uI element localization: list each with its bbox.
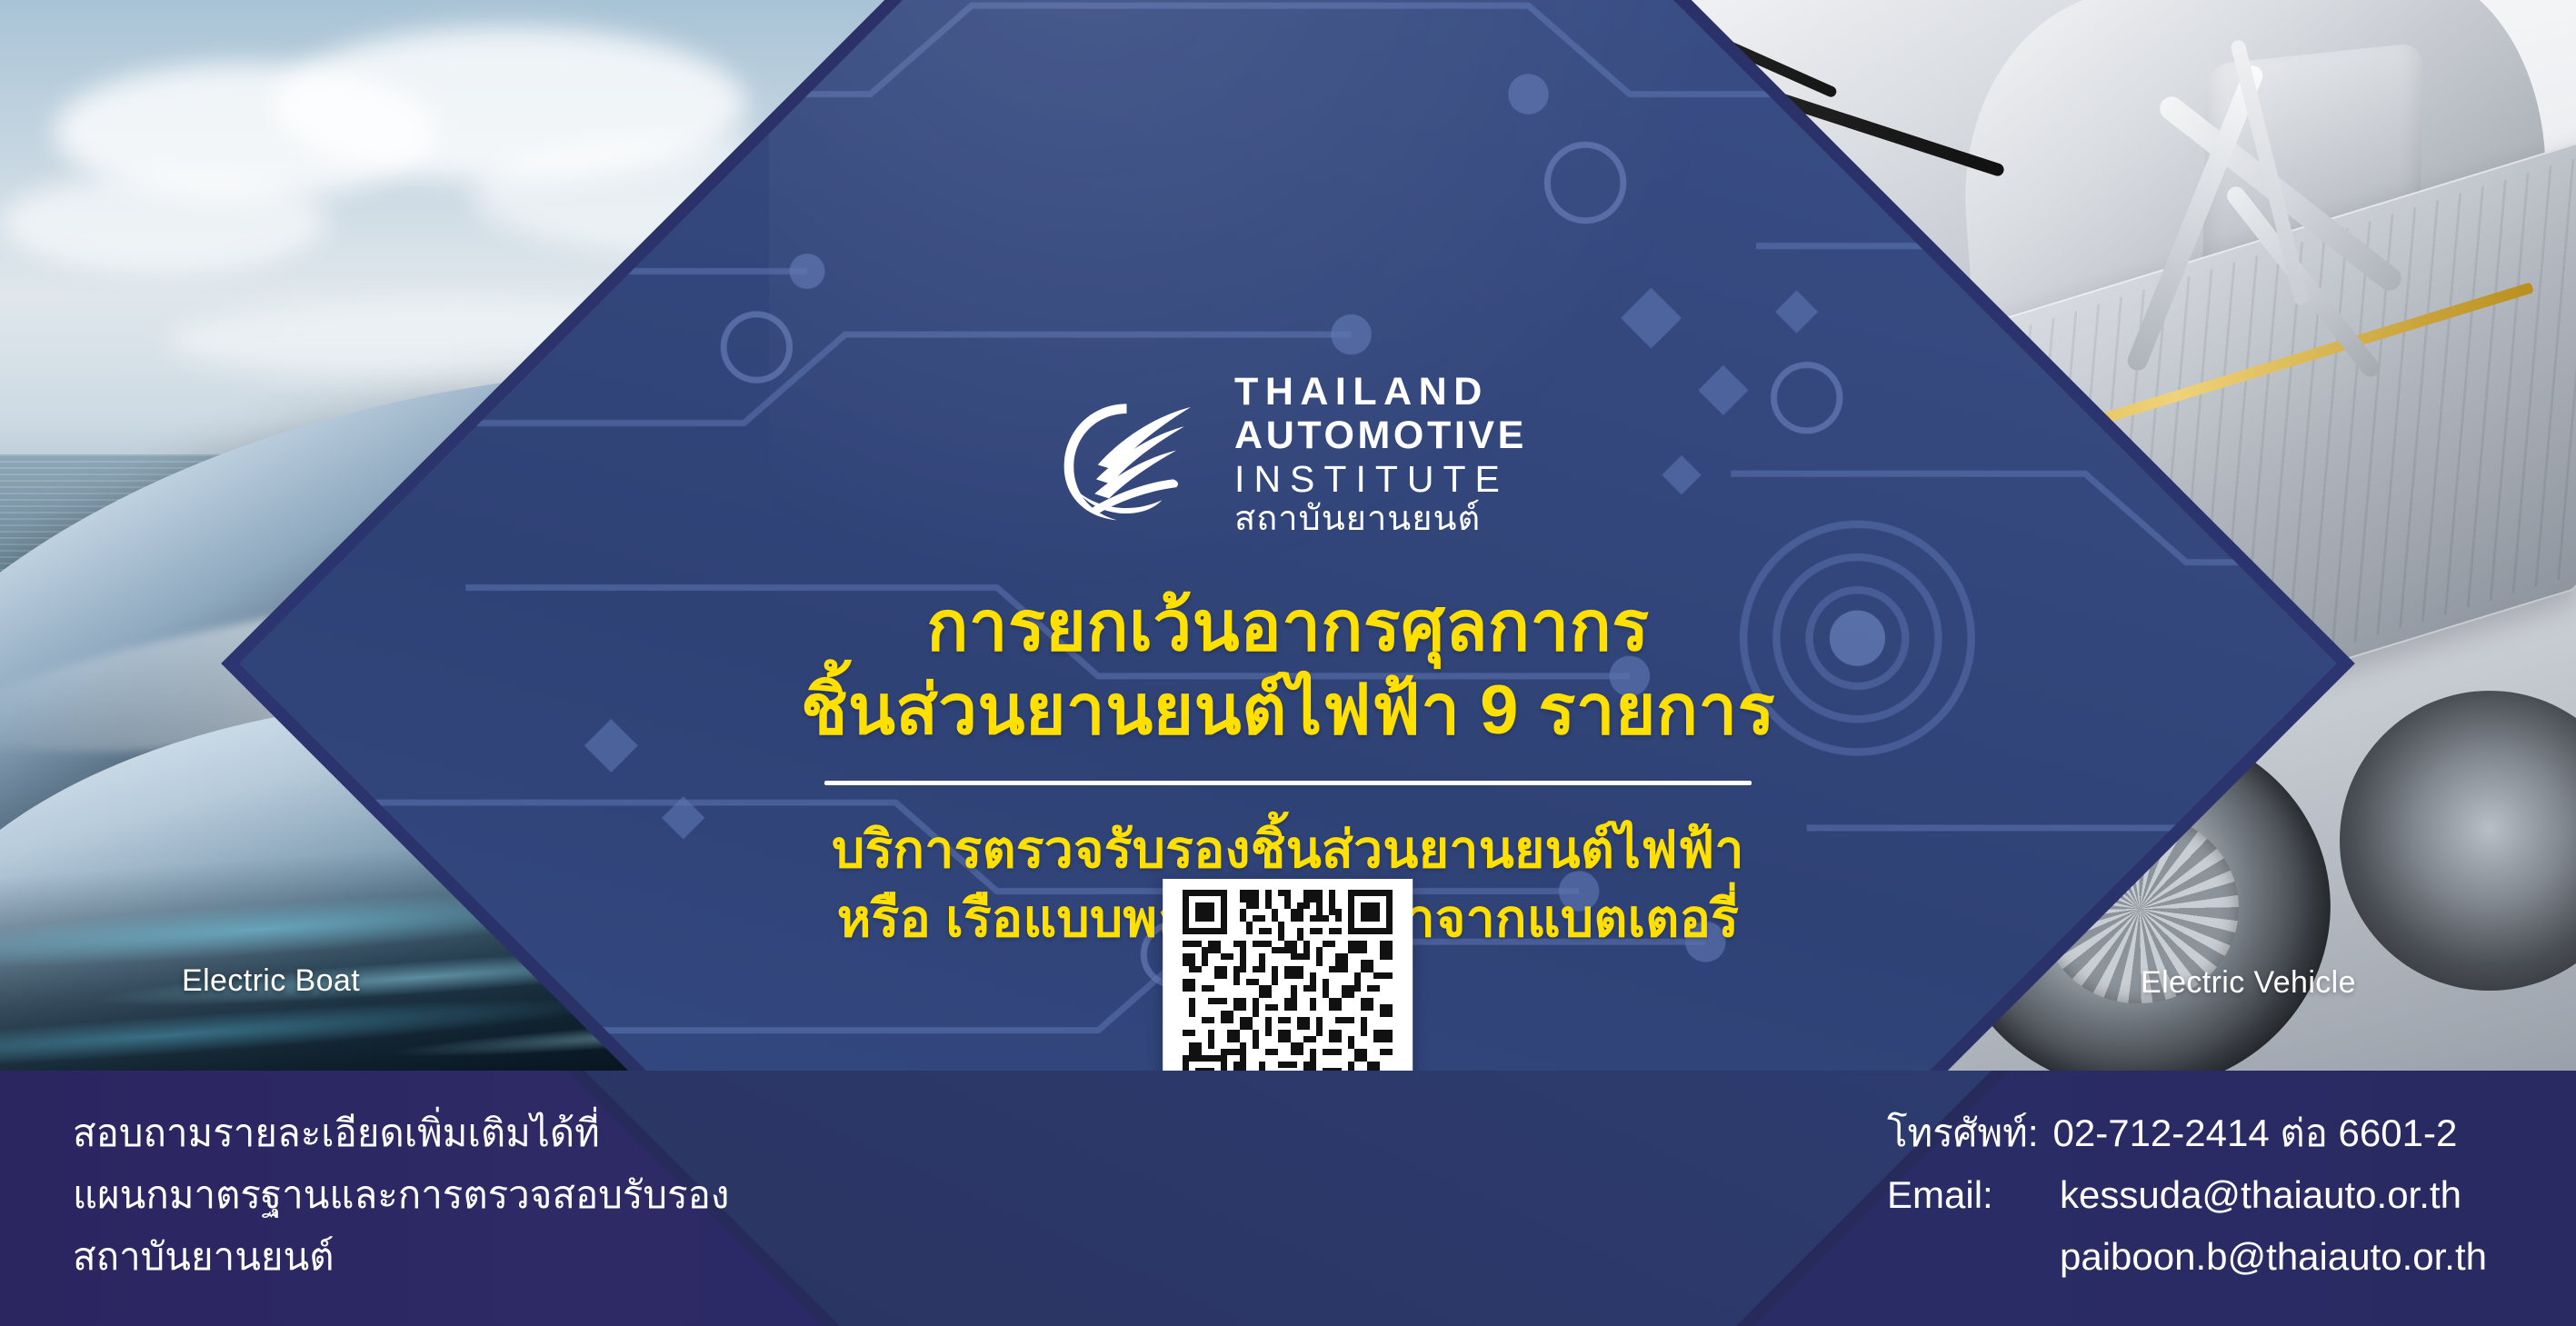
logo-line-institute: INSTITUTE bbox=[1234, 460, 1527, 497]
tai-logo: THAILAND AUTOMOTIVE INSTITUTE สถาบันยานย… bbox=[638, 372, 1938, 535]
email-value-1[interactable]: kessuda@thaiauto.or.th bbox=[2060, 1164, 2461, 1226]
headline-divider bbox=[824, 781, 1752, 785]
email-row-1: Email: kessuda@thaiauto.or.th bbox=[1887, 1164, 2487, 1226]
subheadline-line-1: บริการตรวจรับรองชิ้นส่วนยานยนต์ไฟฟ้า bbox=[638, 816, 1938, 885]
cloud-shape bbox=[0, 173, 327, 273]
tai-logo-text: THAILAND AUTOMOTIVE INSTITUTE สถาบันยานย… bbox=[1234, 372, 1527, 535]
email-row-2: paiboon.b@thaiauto.or.th bbox=[1887, 1226, 2487, 1288]
contact-right: โทรศัพท์: 02-712-2414 ต่อ 6601-2 Email: … bbox=[1887, 1102, 2487, 1288]
caption-electric-vehicle: Electric Vehicle bbox=[2141, 965, 2356, 1001]
contact-left-line-1: สอบถามรายละเอียดเพิ่มเติมได้ที่ bbox=[73, 1102, 729, 1164]
tai-wing-logo-icon bbox=[1049, 385, 1211, 522]
caption-electric-boat: Electric Boat bbox=[182, 963, 360, 999]
logo-line-thai: สถาบันยานยนต์ bbox=[1234, 501, 1527, 535]
qr-code-icon[interactable] bbox=[1173, 890, 1402, 1100]
diamond-content: THAILAND AUTOMOTIVE INSTITUTE สถาบันยานย… bbox=[638, 372, 1938, 953]
phone-value: 02-712-2414 ต่อ 6601-2 bbox=[2053, 1102, 2458, 1164]
contact-left-line-3: สถาบันยานยนต์ bbox=[73, 1226, 729, 1288]
phone-label: โทรศัพท์: bbox=[1887, 1102, 2039, 1164]
contact-left-line-2: แผนกมาตรฐานและการตรวจสอบรับรอง bbox=[73, 1164, 729, 1226]
ev-wheel-shape bbox=[2340, 691, 2576, 991]
headline-line-1: การยกเว้นอากรศุลกากร bbox=[638, 584, 1938, 669]
headline: การยกเว้นอากรศุลกากร ชิ้นส่วนยานยนต์ไฟฟ้… bbox=[638, 584, 1938, 753]
headline-line-2: ชิ้นส่วนยานยนต์ไฟฟ้า 9 รายการ bbox=[638, 669, 1938, 753]
logo-line-thailand: THAILAND bbox=[1234, 372, 1527, 411]
logo-line-automotive: AUTOMOTIVE bbox=[1234, 415, 1527, 454]
phone-row: โทรศัพท์: 02-712-2414 ต่อ 6601-2 bbox=[1887, 1102, 2487, 1164]
email-value-2[interactable]: paiboon.b@thaiauto.or.th bbox=[2060, 1226, 2487, 1288]
email-label: Email: bbox=[1887, 1164, 2020, 1226]
contact-left: สอบถามรายละเอียดเพิ่มเติมได้ที่ แผนกมาตร… bbox=[73, 1102, 729, 1288]
banner-root: THAILAND AUTOMOTIVE INSTITUTE สถาบันยานย… bbox=[0, 0, 2576, 1326]
